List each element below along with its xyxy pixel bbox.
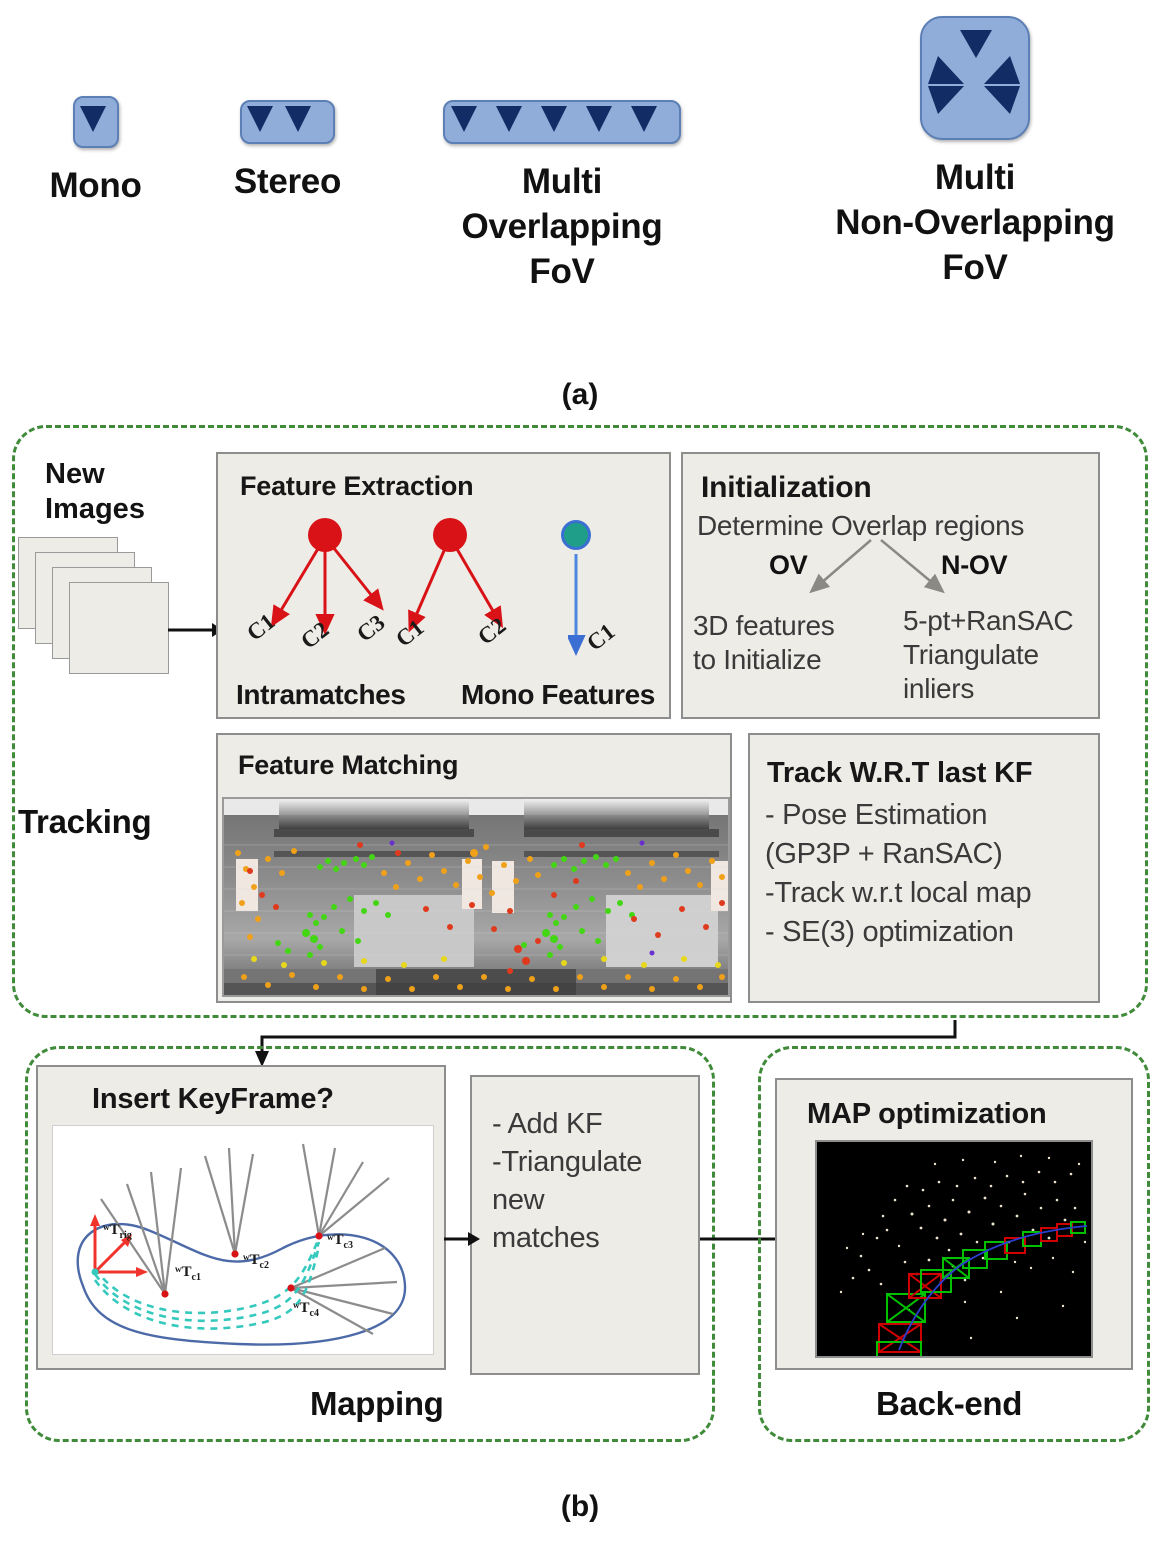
fov-triangle-down-right-icon: [984, 86, 1020, 114]
fov-triangle-up-right-icon: [984, 56, 1020, 84]
panel-a-label: (a): [500, 378, 660, 412]
branch-text-ov: 3D features to Initialize: [693, 609, 834, 677]
new-images-stack: [18, 537, 203, 682]
mapping-actions-panel: - Add KF -Triangulate new matches: [470, 1075, 700, 1375]
track-wrt-kf-item: - SE(3) optimization: [765, 915, 1014, 950]
camera-config-multi-non-overlapping: Multi Non-Overlapping FoV: [790, 16, 1160, 290]
fov-triangle-down-icon: [285, 106, 311, 132]
fov-triangle-down-icon: [451, 106, 477, 132]
feature-matching-panel: Feature Matching: [216, 733, 732, 1003]
feature-matching-title: Feature Matching: [238, 750, 458, 781]
initialization-title: Initialization: [701, 471, 872, 505]
mapping-action-item: new: [492, 1183, 544, 1218]
new-image-card: [69, 582, 169, 674]
track-wrt-kf-item: - Pose Estimation: [765, 798, 987, 833]
camera-config-label-multi-non-overlapping: Multi Non-Overlapping FoV: [790, 156, 1160, 290]
map-optimization-panel: MAP optimization: [775, 1078, 1133, 1370]
camera-config-stereo: Stereo: [205, 100, 370, 205]
svg-text:ʷTc4: ʷTc4: [293, 1300, 319, 1319]
fov-triangle-up-left-icon: [928, 56, 964, 84]
intramatches-caption: Intramatches: [236, 679, 406, 711]
svg-text:ʷTc1: ʷTc1: [175, 1264, 201, 1283]
panel-b-label: (b): [500, 1490, 660, 1524]
camera-body-multi-non-overlapping: [920, 16, 1030, 140]
camera-body-stereo: [240, 100, 335, 144]
fov-triangle-down-icon: [496, 106, 522, 132]
arrow-keyframe-to-actions: [444, 1228, 480, 1250]
track-wrt-kf-item: (GP3P + RanSAC): [765, 837, 1003, 872]
initialization-branch-arrows: [803, 538, 963, 603]
initialization-panel: Initialization Determine Overlap regions…: [681, 452, 1100, 719]
mono-feature-dot: [561, 520, 591, 550]
tracking-section-label: Tracking: [18, 803, 151, 841]
mapping-section-label: Mapping: [310, 1385, 444, 1423]
svg-text:ʷTc2: ʷTc2: [243, 1252, 269, 1271]
camera-config-label-stereo: Stereo: [205, 160, 370, 205]
map-pointcloud-image: [815, 1140, 1093, 1358]
camera-body-mono: [73, 96, 119, 148]
feature-matching-image: [222, 797, 730, 997]
camera-configuration-row: Mono Stereo Multi Overlapping FoV: [0, 0, 1162, 420]
new-images-label: New Images: [45, 457, 145, 528]
fov-triangle-down-icon: [586, 106, 612, 132]
fov-triangle-down-icon: [80, 106, 106, 132]
mono-features-caption: Mono Features: [461, 679, 655, 711]
camera-config-mono: Mono: [18, 96, 173, 209]
fov-triangle-down-icon: [247, 106, 273, 132]
keyframe-trajectory-image: ʷTrig ʷTc1 ʷTc2 ʷTc3 ʷTc4: [52, 1125, 434, 1355]
mapping-action-item: matches: [492, 1221, 600, 1256]
camera-config-label-multi-overlapping: Multi Overlapping FoV: [402, 160, 722, 294]
camera-config-multi-overlapping: Multi Overlapping FoV: [402, 100, 722, 294]
map-optimization-title: MAP optimization: [807, 1098, 1047, 1131]
mapping-action-item: -Triangulate: [492, 1145, 642, 1180]
insert-keyframe-panel: Insert KeyFrame?: [36, 1065, 446, 1370]
track-wrt-kf-item: -Track w.r.t local map: [765, 876, 1031, 911]
insert-keyframe-title: Insert KeyFrame?: [92, 1083, 334, 1116]
camera-config-label-mono: Mono: [18, 164, 173, 209]
track-wrt-kf-title: Track W.R.T last KF: [767, 757, 1032, 790]
fov-triangle-down-icon: [541, 106, 567, 132]
arrow-images-to-extraction: [168, 618, 223, 642]
feature-extraction-panel: Feature Extraction C1 C2 C3 C1 C2: [216, 452, 671, 719]
branch-label-ov: OV: [769, 549, 807, 582]
camera-body-multi-overlapping: [443, 100, 681, 144]
mapping-action-item: - Add KF: [492, 1107, 602, 1142]
backend-section-label: Back-end: [876, 1385, 1022, 1423]
figure-root: Mono Stereo Multi Overlapping FoV: [0, 0, 1162, 1547]
fov-triangle-down-icon: [631, 106, 657, 132]
fov-triangle-down-icon: [960, 30, 992, 58]
feature-extraction-title: Feature Extraction: [240, 471, 473, 502]
fov-triangle-down-left-icon: [928, 86, 964, 114]
branch-text-nov: 5-pt+RanSAC Triangulate inliers: [903, 604, 1073, 706]
track-wrt-kf-panel: Track W.R.T last KF - Pose Estimation (G…: [748, 733, 1100, 1003]
